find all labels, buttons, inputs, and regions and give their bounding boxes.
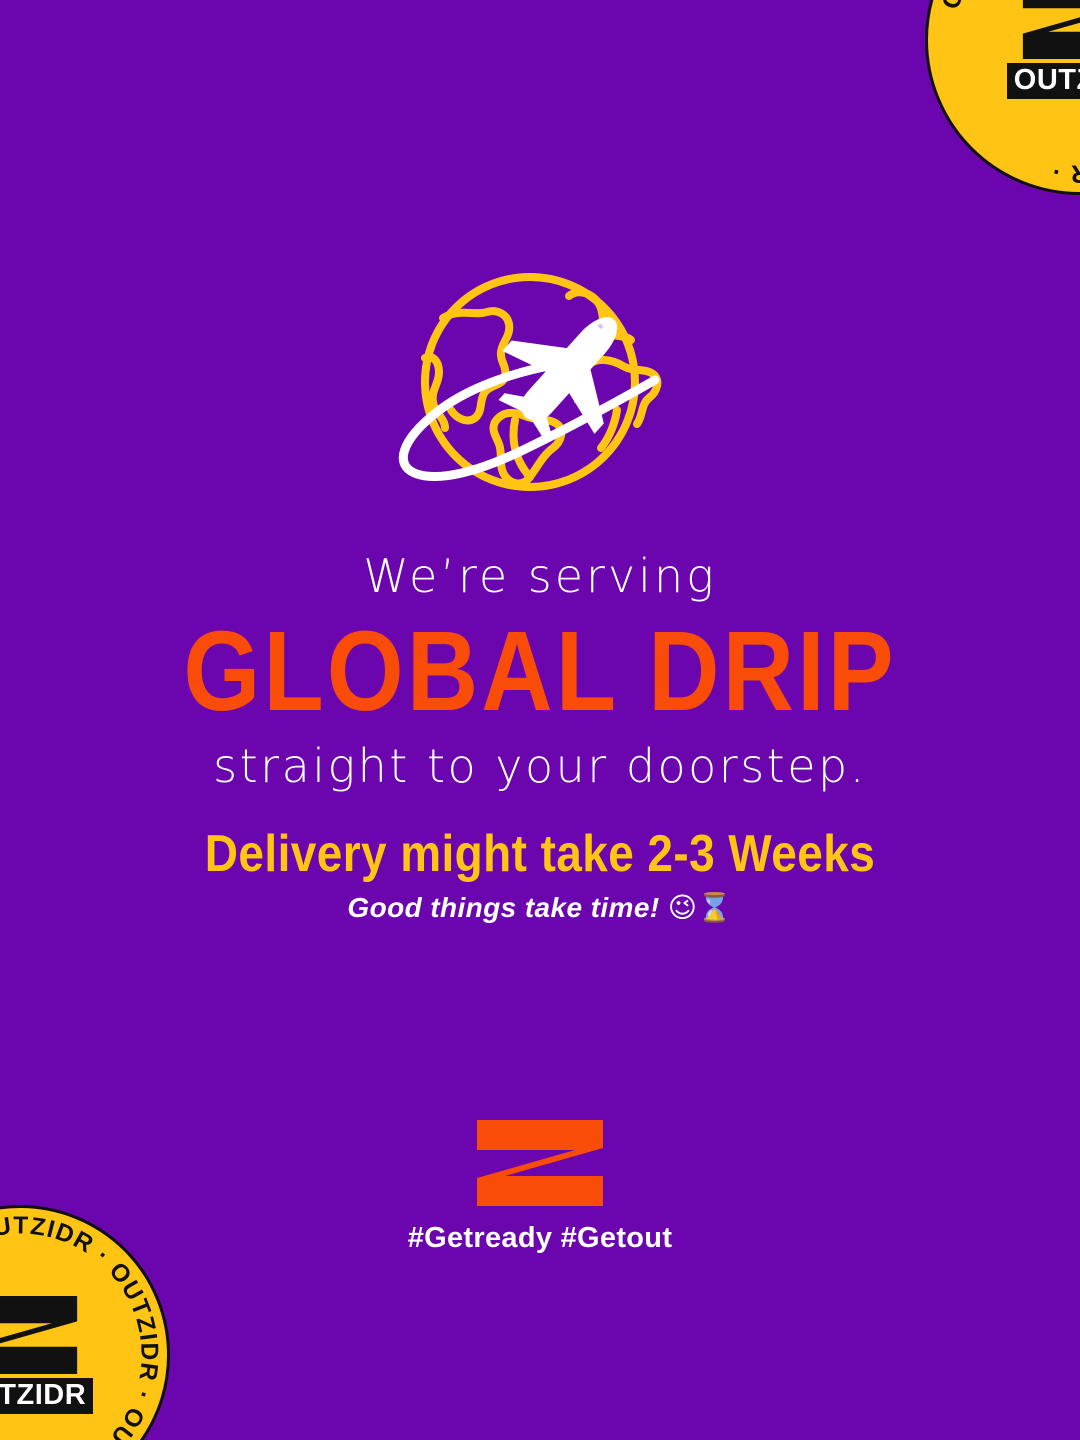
promo-poster: We’re serving GLOBAL DRIP straight to yo…: [0, 0, 1080, 1440]
wink-hourglass-emoji: 😉⌛: [668, 891, 733, 924]
badge-wordmark-part1: OUT: [1014, 64, 1077, 96]
delivery-notice-block: Delivery might take 2-3 Weeks Good thing…: [0, 824, 1080, 924]
outzidr-stamp-badge-bottom-left: OUTZIDR · OUTZIDR · OUTZIDR · OUTZIDR · …: [0, 1205, 170, 1440]
badge-center-mark-tr: OUTZIDR: [996, 0, 1080, 99]
badge-wordmark-part2: IDR: [35, 1379, 86, 1411]
badge-wordmark-z: Z: [1077, 64, 1080, 96]
headline-block: We’re serving GLOBAL DRIP straight to yo…: [0, 548, 1080, 793]
outzidr-z-stamp-icon: [0, 1296, 95, 1374]
outzidr-stamp-badge-top-right: OUTZIDR · OUTZIDR · OUTZIDR · OUTZIDR · …: [925, 0, 1080, 195]
badge-wordmark-part1: OUT: [0, 1379, 17, 1411]
headline-line-3: straight to your doorstep.: [0, 739, 1080, 793]
outzidr-z-logo-icon: [477, 1120, 603, 1206]
delivery-subtext: Good things take time! 😉⌛: [0, 891, 1080, 924]
delivery-subtext-label: Good things take time!: [347, 892, 659, 923]
globe-airplane-emblem: [355, 270, 725, 515]
headline-line-2: GLOBAL DRIP: [0, 612, 1080, 732]
badge-wordmark-bl: OUTZIDR: [0, 1378, 93, 1414]
badge-wordmark-tr: OUTZIDR: [1007, 63, 1080, 99]
outzidr-z-stamp-icon: [1005, 0, 1080, 59]
badge-center-mark-bl: OUTZIDR: [0, 1296, 104, 1414]
headline-line-1: We’re serving: [0, 548, 1080, 606]
delivery-time-text: Delivery might take 2-3 Weeks: [0, 824, 1080, 883]
badge-wordmark-z: Z: [17, 1379, 35, 1411]
